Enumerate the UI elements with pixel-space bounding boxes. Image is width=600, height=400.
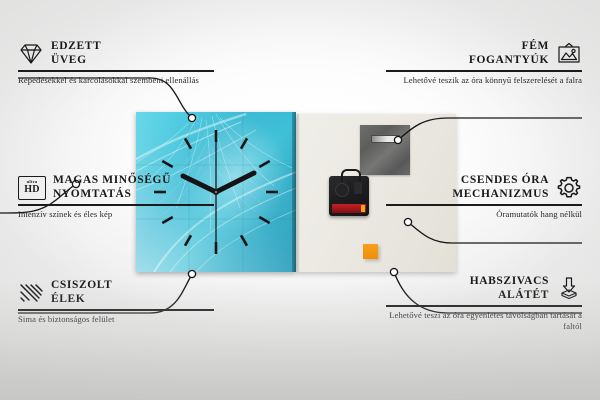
feature-description: Lehetővé teszi az óra egyenletes távolsá… — [386, 310, 582, 333]
feature-title-line2: ALÁTÉT — [470, 289, 549, 303]
feature-metal-handles: FÉM FOGANTYÚK Lehetővé teszik az óra kön… — [386, 40, 582, 86]
foam-spacer-icon — [556, 276, 582, 302]
feature-title-line1: EDZETT — [51, 40, 101, 54]
feature-description: Repedésekkel és karcolásokkal szembeni e… — [18, 75, 214, 86]
feature-title: CSISZOLT ÉLEK — [51, 279, 112, 306]
foam-pad — [363, 244, 378, 259]
polished-edges-icon — [18, 280, 44, 306]
feature-title: EDZETT ÜVEG — [51, 40, 101, 67]
battery — [332, 204, 366, 213]
badge-hd-label: HD — [24, 185, 39, 195]
feature-title: MAGAS MINŐSÉGŰ NYOMTATÁS — [53, 174, 171, 201]
feature-high-quality-print: ultra HD MAGAS MINŐSÉGŰ NYOMTATÁS Intenz… — [18, 174, 214, 220]
metal-hanger-plate — [360, 125, 410, 175]
feature-title-line2: MECHANIZMUS — [452, 188, 549, 202]
diamond-icon — [18, 41, 44, 67]
feature-polished-edges: CSISZOLT ÉLEK Sima és biztonságos felüle… — [18, 279, 214, 325]
feature-description: Sima és biztonságos felület — [18, 314, 214, 325]
feature-header: CSISZOLT ÉLEK — [18, 279, 214, 306]
feature-title-line2: ÉLEK — [51, 293, 112, 307]
feature-title-line2: ÜVEG — [51, 54, 101, 68]
feature-description: Óramutatók hang nélkül — [386, 209, 582, 220]
hanging-loop — [341, 169, 361, 181]
feature-header: EDZETT ÜVEG — [18, 40, 214, 67]
feature-divider — [386, 70, 582, 71]
ultra-hd-badge-icon: ultra HD — [18, 176, 46, 200]
feature-tempered-glass: EDZETT ÜVEG Repedésekkel és karcolásokka… — [18, 40, 214, 86]
feature-title: FÉM FOGANTYÚK — [469, 40, 549, 67]
picture-hanger-icon — [556, 41, 582, 67]
feature-foam-spacer: HABSZIVACS ALÁTÉT Lehetővé teszi az óra … — [386, 275, 582, 332]
feature-divider — [18, 309, 214, 310]
clock-mechanism — [329, 176, 369, 216]
feature-title-line1: HABSZIVACS — [470, 275, 549, 289]
feature-divider — [386, 305, 582, 306]
feature-divider — [386, 204, 582, 205]
feature-description: Intenzív színek és éles kép — [18, 209, 214, 220]
mechanism-dial — [335, 183, 349, 197]
feature-header: FÉM FOGANTYÚK — [386, 40, 582, 67]
product-infographic: EDZETT ÜVEG Repedésekkel és karcolásokka… — [0, 0, 600, 400]
feature-title-line1: FÉM — [469, 40, 549, 54]
feature-title-line1: CSISZOLT — [51, 279, 112, 293]
feature-header: ultra HD MAGAS MINŐSÉGŰ NYOMTATÁS — [18, 174, 214, 201]
glass-edge — [292, 112, 296, 272]
feature-description: Lehetővé teszik az óra könnyű felszerelé… — [386, 75, 582, 86]
gear-icon — [556, 175, 582, 201]
feature-title-line1: CSENDES ÓRA — [452, 174, 549, 188]
feature-silent-mechanism: CSENDES ÓRA MECHANIZMUS Óramutatók hang … — [386, 174, 582, 220]
feature-title: CSENDES ÓRA MECHANIZMUS — [452, 174, 549, 201]
hanger-slot — [371, 135, 400, 143]
feature-header: HABSZIVACS ALÁTÉT — [386, 275, 582, 302]
feature-title-line2: FOGANTYÚK — [469, 54, 549, 68]
feature-title-line1: MAGAS MINŐSÉGŰ — [53, 174, 171, 188]
feature-divider — [18, 204, 214, 205]
mechanism-shaft — [354, 182, 362, 194]
feature-title-line2: NYOMTATÁS — [53, 188, 171, 202]
feature-title: HABSZIVACS ALÁTÉT — [470, 275, 549, 302]
feature-header: CSENDES ÓRA MECHANIZMUS — [386, 174, 582, 201]
feature-divider — [18, 70, 214, 71]
